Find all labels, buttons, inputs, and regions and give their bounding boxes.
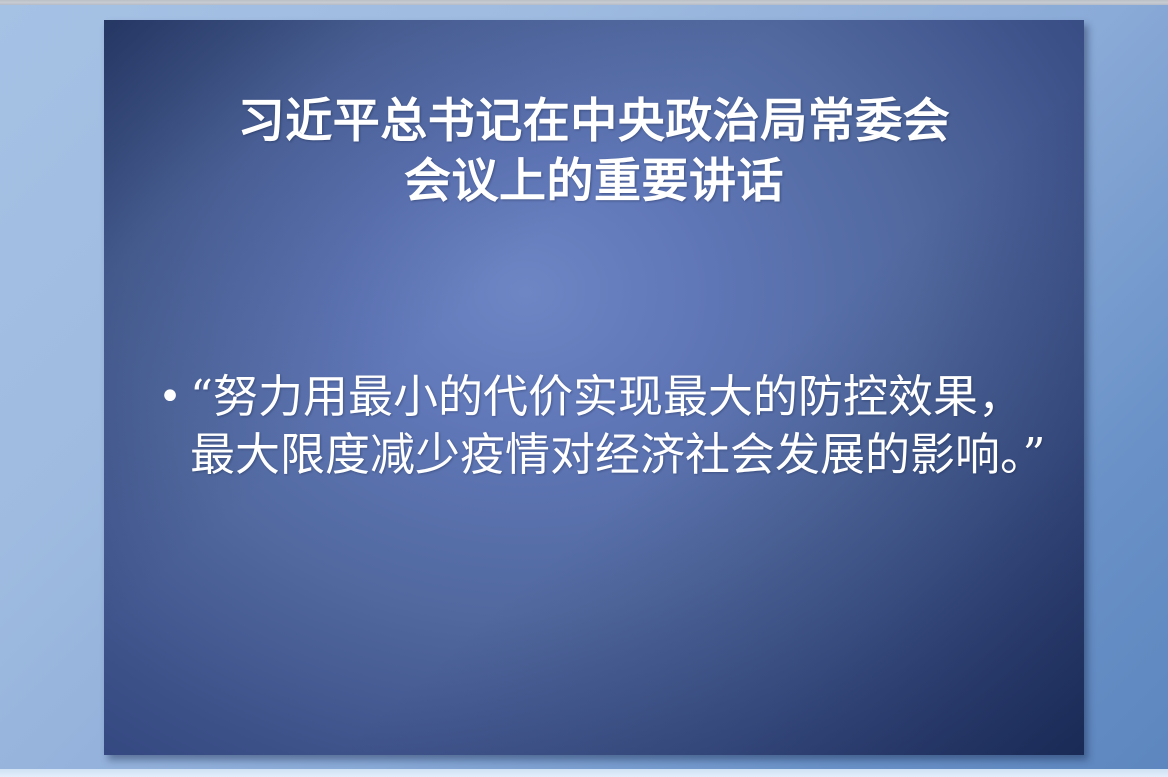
bullet-point-icon: •	[150, 368, 190, 426]
bullet-list-item: • “努力用最小的代价实现最大的防控效果，最大限度减少疫情对经济社会发展的影响。…	[150, 368, 1060, 484]
slide-title-line-1: 习近平总书记在中央政治局常委会	[144, 92, 1044, 152]
window-bottom-chrome	[0, 769, 1168, 777]
bullet-item-text: “努力用最小的代价实现最大的防控效果，最大限度减少疫情对经济社会发展的影响。”	[190, 368, 1060, 484]
slide-canvas[interactable]: 习近平总书记在中央政治局常委会 会议上的重要讲话 • “努力用最小的代价实现最大…	[104, 20, 1084, 755]
presentation-viewer: 习近平总书记在中央政治局常委会 会议上的重要讲话 • “努力用最小的代价实现最大…	[0, 0, 1168, 777]
slide-body: • “努力用最小的代价实现最大的防控效果，最大限度减少疫情对经济社会发展的影响。…	[150, 368, 1060, 484]
slide-title: 习近平总书记在中央政治局常委会 会议上的重要讲话	[144, 92, 1044, 212]
slide-content: 习近平总书记在中央政治局常委会 会议上的重要讲话 • “努力用最小的代价实现最大…	[104, 20, 1084, 755]
slide-title-line-2: 会议上的重要讲话	[144, 152, 1044, 212]
